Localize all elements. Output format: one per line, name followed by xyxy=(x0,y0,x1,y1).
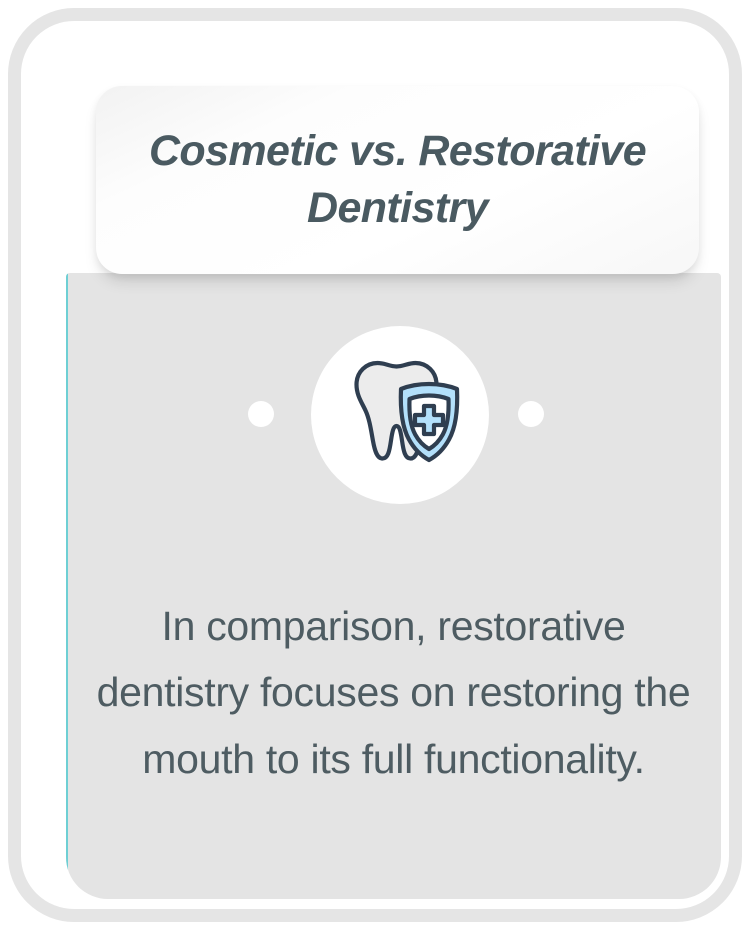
decorative-dot-right-icon xyxy=(518,401,544,427)
content-panel: In comparison, restorative dentistry foc… xyxy=(66,273,721,899)
card-body-text: In comparison, restorative dentistry foc… xyxy=(84,593,703,792)
icon-badge xyxy=(311,326,489,504)
decorative-dot-left-icon xyxy=(248,401,274,427)
card-frame: In comparison, restorative dentistry foc… xyxy=(8,8,742,922)
title-card: Cosmetic vs. Restorative Dentistry xyxy=(96,86,699,274)
page-title: Cosmetic vs. Restorative Dentistry xyxy=(118,123,678,237)
icon-row xyxy=(66,326,721,508)
tooth-shield-icon xyxy=(336,354,464,476)
